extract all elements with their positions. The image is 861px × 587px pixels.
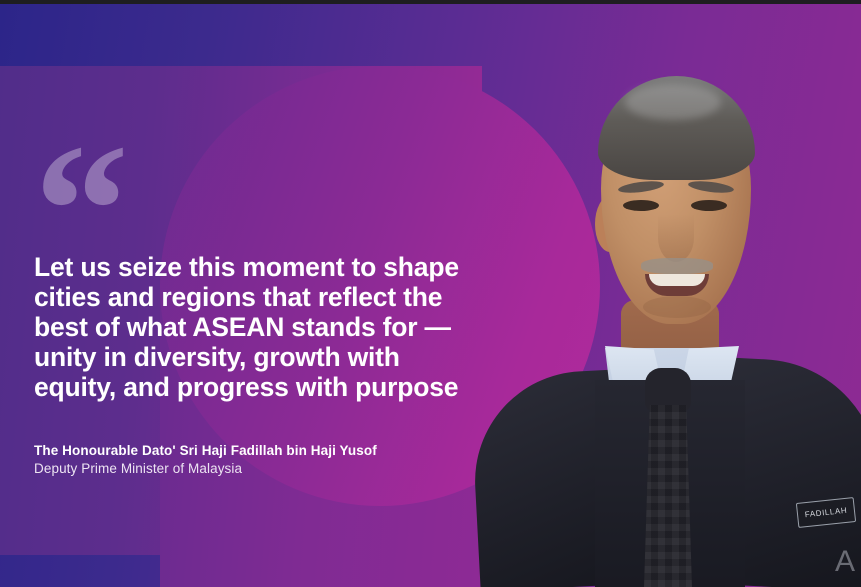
teeth bbox=[649, 274, 705, 286]
quote-slide: FADILLAH A “ Let us seize this moment to… bbox=[0, 0, 861, 587]
quote-text: Let us seize this moment to shape cities… bbox=[34, 252, 486, 402]
attribution-role: Deputy Prime Minister of Malaysia bbox=[34, 461, 377, 476]
necktie bbox=[644, 405, 692, 587]
eye-right bbox=[691, 200, 727, 211]
top-dark-strip bbox=[0, 0, 861, 4]
eye-left bbox=[623, 200, 659, 211]
hair-highlight bbox=[625, 84, 721, 120]
portrait-photo: FADILLAH bbox=[455, 0, 861, 587]
nose bbox=[658, 214, 694, 262]
attribution-name: The Honourable Dato' Sri Haji Fadillah b… bbox=[34, 443, 377, 458]
quote-block: Let us seize this moment to shape cities… bbox=[34, 252, 486, 402]
moustache bbox=[641, 258, 713, 274]
corner-watermark: A bbox=[835, 545, 855, 579]
name-badge-label: FADILLAH bbox=[804, 506, 847, 519]
chin-shadow bbox=[643, 296, 711, 318]
attribution: The Honourable Dato' Sri Haji Fadillah b… bbox=[34, 443, 377, 476]
